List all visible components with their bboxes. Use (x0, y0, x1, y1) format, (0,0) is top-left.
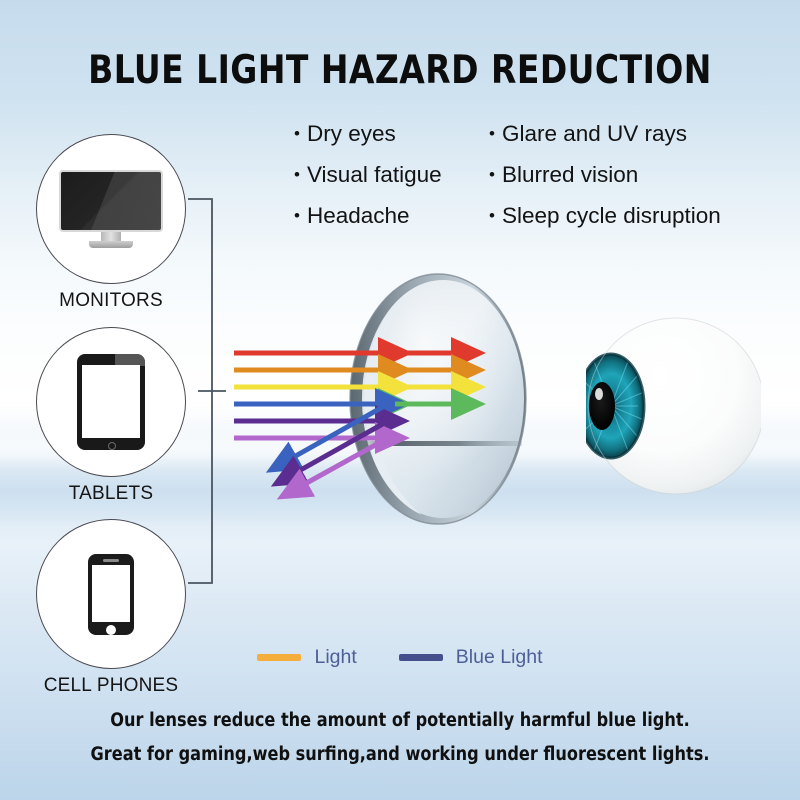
infographic-poster: BLUE LIGHT HAZARD REDUCTION •Dry eyes •V… (0, 0, 800, 800)
light-ray-diagram (0, 0, 800, 800)
legend-item-blue-light: Blue Light (399, 646, 543, 669)
legend: Light Blue Light (0, 646, 800, 669)
footer-line-1: Our lenses reduce the amount of potentia… (12, 710, 788, 731)
legend-item-light: Light (257, 646, 356, 669)
legend-swatch-blue-light (399, 654, 443, 661)
legend-swatch-light (257, 654, 301, 661)
legend-label-light: Light (314, 646, 356, 669)
legend-label-blue-light: Blue Light (456, 646, 543, 669)
footer-line-2: Great for gaming,web surfing,and working… (12, 744, 788, 765)
